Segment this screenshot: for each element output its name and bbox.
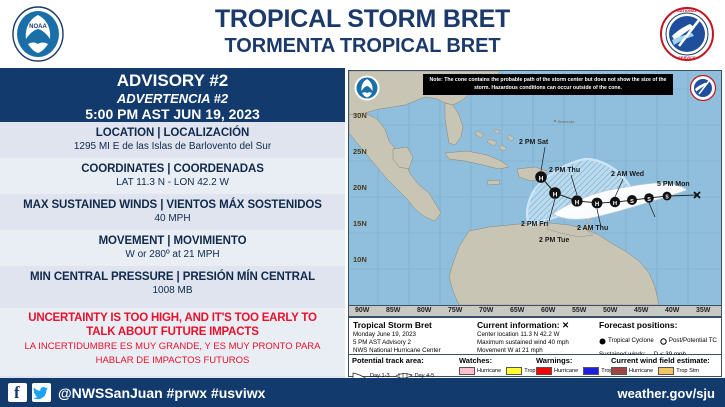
field-label: LOCATION | LOCALIZACIÓN xyxy=(4,126,341,140)
track-label-2pm-sat: 2 PM Sat xyxy=(519,139,548,146)
info-current-line: Center location 11.3 N 42.2 W xyxy=(477,331,569,339)
lon-label-90w: 90W xyxy=(355,307,369,314)
cone-note: Note: The cone contains the probable pat… xyxy=(423,74,673,95)
lon-label-55w: 55W xyxy=(572,307,586,314)
tropical-cyclone-icon xyxy=(599,332,606,350)
info-forecast-title: Forecast positions: xyxy=(599,320,717,331)
forecast-map-panel: Bermuda xyxy=(345,68,725,378)
watch-hurricane-label: Hurricane xyxy=(477,368,501,374)
lon-label-75w: 75W xyxy=(448,307,462,314)
info-current-title: Current information: ✕ xyxy=(477,320,569,331)
field-max-winds: MAX SUSTAINED WINDS | VIENTOS MÁX SOSTEN… xyxy=(0,194,345,230)
info-storm-title: Tropical Storm Bret xyxy=(353,320,441,331)
uncertainty-warning: UNCERTAINTY IS TOO HIGH, AND IT'S TOO EA… xyxy=(0,308,345,376)
warning-es-line2: HABLAR DE IMPACTOS FUTUROS xyxy=(0,355,345,367)
info-current-column: Current information: ✕ Center location 1… xyxy=(477,320,569,355)
map-nws-logo xyxy=(690,75,716,101)
warning-tropstm-swatch xyxy=(583,367,599,375)
footer: f @NWSSanJuan #prwx #usviwx weather.gov/… xyxy=(0,378,725,407)
warning-es-line1: LA INCERTIDUMBRE ES MUY GRANDE, Y ES MUY… xyxy=(0,341,345,353)
advisory-graphic: NOAA TROPICAL STORM BRET TORMENTA TROPIC… xyxy=(0,0,725,407)
advisory-time: 5:00 PM AST JUN 19, 2023 xyxy=(0,106,345,123)
svg-text:H: H xyxy=(553,192,558,199)
lon-label-60w: 60W xyxy=(541,307,555,314)
lon-label-70w: 70W xyxy=(479,307,493,314)
svg-text:H: H xyxy=(595,202,599,208)
svg-text:SERVICE: SERVICE xyxy=(678,55,696,60)
noaa-logo: NOAA xyxy=(10,6,66,62)
wind-hurricane-swatch xyxy=(611,367,627,375)
svg-text:H: H xyxy=(539,176,544,183)
facebook-icon[interactable]: f xyxy=(8,383,27,402)
track-label-2am-thu: 2 AM Thu xyxy=(577,225,608,232)
lon-label-80w: 80W xyxy=(417,307,431,314)
lat-label-10n: 10N xyxy=(353,255,367,264)
field-movement: MOVEMENT | MOVIMIENTO W or 280º at 21 MP… xyxy=(0,230,345,266)
legend-track-title: Potential track area: xyxy=(352,356,434,366)
info-storm-column: Tropical Storm Bret Monday June 19, 2023… xyxy=(353,320,441,355)
svg-text:H: H xyxy=(575,199,580,206)
legend-wind-column: Current wind field estimate: Hurricane T… xyxy=(611,356,710,375)
header: NOAA TROPICAL STORM BRET TORMENTA TROPIC… xyxy=(0,0,725,68)
info-storm-line: NWS National Hurricane Center xyxy=(353,347,441,355)
legend-watches-row: Hurricane Trop Stm xyxy=(459,367,547,375)
track-label-2pm-fri: 2 PM Fri xyxy=(521,221,548,228)
advisory-fields: LOCATION | LOCALIZACIÓN 1295 MI E de las… xyxy=(0,122,345,302)
field-value: 1008 MB xyxy=(4,284,341,297)
warning-hurricane-label: Hurricane xyxy=(554,368,578,374)
watch-tropstm-swatch xyxy=(506,367,522,375)
info-current-line: Maximum sustained wind 40 mph xyxy=(477,339,569,347)
nws-logo: NATIONAL SERVICE xyxy=(659,6,715,62)
field-label: MOVEMENT | MOVIMIENTO xyxy=(4,234,341,248)
lon-label-40w: 40W xyxy=(665,307,679,314)
forecast-symbol-row: Tropical Cyclone Post/Potential TC xyxy=(599,332,717,350)
advisory-panel: ADVISORY #2 ADVERTENCIA #2 5:00 PM AST J… xyxy=(0,68,345,378)
legend-watches-title: Watches: xyxy=(459,356,547,366)
lon-label-50w: 50W xyxy=(603,307,617,314)
map-legend: Potential track area: Day 1-3 xyxy=(348,355,722,377)
svg-text:NATIONAL: NATIONAL xyxy=(677,8,698,13)
field-label: COORDINATES | COORDENADAS xyxy=(4,162,341,176)
field-label: MIN CENTRAL PRESSURE | PRESIÓN MÍN CENTR… xyxy=(4,270,341,284)
info-current-line: Movement W at 21 mph xyxy=(477,347,569,355)
advisory-header: ADVISORY #2 ADVERTENCIA #2 5:00 PM AST J… xyxy=(0,68,345,122)
map-info-panel: Tropical Storm Bret Monday June 19, 2023… xyxy=(348,317,722,355)
legend-wind-title: Current wind field estimate: xyxy=(611,356,710,366)
advisory-number-es: ADVERTENCIA #2 xyxy=(0,91,345,106)
facebook-glyph: f xyxy=(14,384,20,402)
website-url[interactable]: weather.gov/sju xyxy=(617,386,715,401)
warning-en-line2: TALK ABOUT FUTURE IMPACTS xyxy=(0,326,345,340)
wind-tropstm-label: Trop Stm xyxy=(676,368,699,374)
svg-text:Bermuda: Bermuda xyxy=(558,119,575,124)
track-label-2am-wed: 2 AM Wed xyxy=(611,171,644,178)
info-storm-line: Monday June 19, 2023 xyxy=(353,331,441,339)
field-pressure: MIN CENTRAL PRESSURE | PRESIÓN MÍN CENTR… xyxy=(0,266,345,302)
lon-label-65w: 65W xyxy=(510,307,524,314)
track-label-2pm-thu: 2 PM Thu xyxy=(549,167,580,174)
svg-text:S: S xyxy=(647,197,651,203)
info-storm-line: 5 PM AST Advisory 2 xyxy=(353,339,441,347)
map-noaa-logo xyxy=(354,75,380,101)
field-value: LAT 11.3 N - LON 42.2 W xyxy=(4,176,341,189)
legend-watches-column: Watches: Hurricane Trop Stm xyxy=(459,356,547,375)
lon-label-45w: 45W xyxy=(634,307,648,314)
svg-text:H: H xyxy=(613,201,617,207)
lat-label-30n: 30N xyxy=(353,111,367,120)
field-value: 1295 MI E de las Islas de Barlovento del… xyxy=(4,140,341,153)
storm-title-en: TROPICAL STORM BRET xyxy=(120,5,605,34)
svg-text:NOAA: NOAA xyxy=(29,24,47,30)
advisory-number-en: ADVISORY #2 xyxy=(0,68,345,91)
legend-wind-row: Hurricane Trop Stm xyxy=(611,367,710,375)
track-label-5pm-mon: 5 PM Mon xyxy=(657,181,690,188)
warning-hurricane-swatch xyxy=(536,367,552,375)
lat-label-25n: 25N xyxy=(353,147,367,156)
lon-label-85w: 85W xyxy=(386,307,400,314)
forecast-cone-map[interactable]: Bermuda xyxy=(348,70,722,306)
forecast-cyclone-label: Tropical Cyclone xyxy=(608,337,654,345)
field-value: W or 280º at 21 MPH xyxy=(4,248,341,261)
field-coordinates: COORDINATES | COORDENADAS LAT 11.3 N - L… xyxy=(0,158,345,194)
header-titles: TROPICAL STORM BRET TORMENTA TROPICAL BR… xyxy=(120,5,605,58)
info-current-title-text: Current information: xyxy=(477,320,560,330)
field-label: MAX SUSTAINED WINDS | VIENTOS MÁX SOSTEN… xyxy=(4,198,341,212)
post-tropical-icon xyxy=(660,332,667,350)
watch-hurricane-swatch xyxy=(459,367,475,375)
storm-title-es: TORMENTA TROPICAL BRET xyxy=(120,34,605,58)
map-graphics: Bermuda xyxy=(349,71,721,305)
forecast-post-label: Post/Potential TC xyxy=(669,337,717,345)
field-location: LOCATION | LOCALIZACIÓN 1295 MI E de las… xyxy=(0,122,345,158)
field-value: 40 MPH xyxy=(4,212,341,225)
warning-en-line1: UNCERTAINTY IS TOO HIGH, AND IT'S TOO EA… xyxy=(0,312,345,326)
twitter-icon[interactable] xyxy=(32,383,51,402)
lat-label-15n: 15N xyxy=(353,219,367,228)
track-label-2pm-tue: 2 PM Tue xyxy=(539,237,569,244)
lon-label-35w: 35W xyxy=(696,307,710,314)
svg-text:S: S xyxy=(630,199,634,205)
longitude-axis: 90W 85W 80W 75W 70W 65W 60W 55W 50W 45W … xyxy=(348,306,722,317)
wind-tropstm-swatch xyxy=(658,367,674,375)
social-handle: @NWSSanJuan #prwx #usviwx xyxy=(58,385,265,401)
wind-hurricane-label: Hurricane xyxy=(629,368,653,374)
current-position-marker-icon: ✕ xyxy=(562,320,569,330)
lat-label-20n: 20N xyxy=(353,183,367,192)
